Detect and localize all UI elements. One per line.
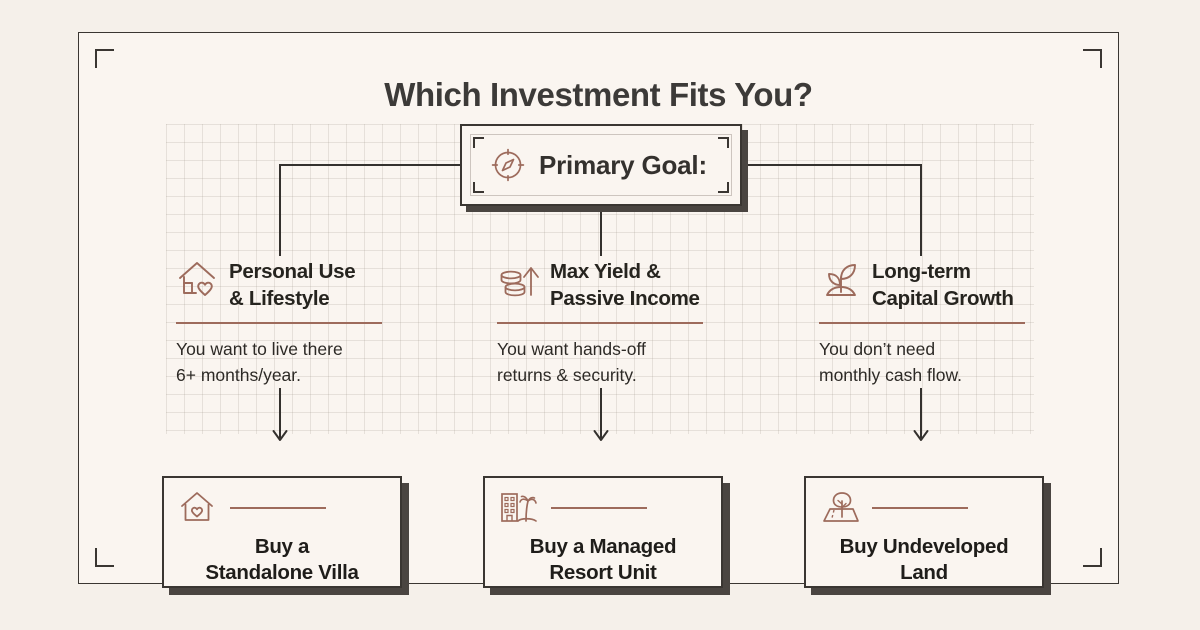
branch-1-heading: Personal Use & Lifestyle <box>229 259 355 312</box>
branch-3-heading: Long-term Capital Growth <box>872 259 1014 312</box>
frame-corner-bottom-right <box>1083 548 1102 567</box>
connector-right-vertical <box>920 164 922 256</box>
goal-corner-bottom-left <box>473 182 484 193</box>
frame-corner-bottom-left <box>95 548 114 567</box>
house-heart-outline-icon <box>178 489 218 527</box>
land-plot-tree-icon <box>820 489 860 527</box>
connector-left-horizontal <box>279 164 461 166</box>
branch-2-divider <box>497 322 703 324</box>
goal-corner-top-right <box>718 137 729 148</box>
goal-corner-bottom-right <box>718 182 729 193</box>
branch-max-yield: Max Yield & Passive Income You want hand… <box>497 259 729 389</box>
connector-center-vertical <box>600 206 602 256</box>
house-heart-icon <box>176 259 220 301</box>
branch-3-description: You don’t need monthly cash flow. <box>819 337 1051 388</box>
branch-1-description: You want to live there 6+ months/year. <box>176 337 408 388</box>
card-2-accent-rule <box>551 507 647 509</box>
coins-up-arrow-icon <box>497 259 541 301</box>
outcome-card-undeveloped-land[interactable]: Buy Undeveloped Land <box>804 476 1044 588</box>
page-title: Which Investment Fits You? <box>79 76 1118 114</box>
card-3-label: Buy Undeveloped Land <box>820 534 1028 586</box>
resort-building-palm-icon <box>499 489 539 527</box>
primary-goal-label: Primary Goal: <box>539 150 707 181</box>
branch-capital-growth: Long-term Capital Growth You don’t need … <box>819 259 1051 389</box>
branch-personal-use: Personal Use & Lifestyle You want to liv… <box>176 259 408 389</box>
connector-right-horizontal <box>741 164 922 166</box>
poster-frame: Which Investment Fits You? <box>78 32 1119 584</box>
card-3-accent-rule <box>872 507 968 509</box>
branch-1-divider <box>176 322 382 324</box>
arrow-down-branch-3 <box>911 388 931 451</box>
arrow-down-branch-1 <box>270 388 290 451</box>
frame-corner-top-left <box>95 49 114 68</box>
card-2-label: Buy a Managed Resort Unit <box>499 534 707 586</box>
primary-goal-node[interactable]: Primary Goal: <box>460 124 742 206</box>
branch-2-heading: Max Yield & Passive Income <box>550 259 700 312</box>
connector-left-vertical <box>279 164 281 256</box>
outcome-card-standalone-villa[interactable]: Buy a Standalone Villa <box>162 476 402 588</box>
arrow-down-branch-2 <box>591 388 611 451</box>
outcome-card-managed-resort-unit[interactable]: Buy a Managed Resort Unit <box>483 476 723 588</box>
sprout-icon <box>819 259 863 301</box>
compass-icon <box>490 147 526 183</box>
branch-3-divider <box>819 322 1025 324</box>
frame-corner-top-right <box>1083 49 1102 68</box>
card-1-label: Buy a Standalone Villa <box>178 534 386 586</box>
branch-2-description: You want hands-off returns & security. <box>497 337 729 388</box>
card-1-accent-rule <box>230 507 326 509</box>
